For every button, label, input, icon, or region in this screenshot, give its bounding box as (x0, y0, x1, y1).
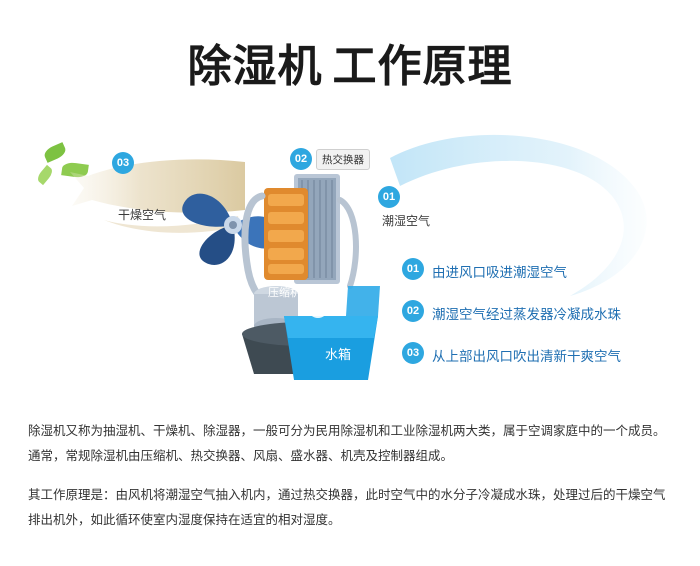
leaf-icon-1 (42, 142, 67, 163)
callout-badge-02: 02 (402, 300, 424, 322)
leaf-icon-3 (35, 165, 54, 185)
label-dry-air: 干燥空气 (118, 206, 166, 223)
badge-03-dry-air: 03 (112, 152, 134, 174)
badge-01-humid-air: 01 (378, 186, 400, 208)
description-paragraph-2: 其工作原理是：由风机将潮湿空气抽入机内，通过热交换器，此时空气中的水分子冷凝成水… (28, 482, 672, 532)
callout-badge-01: 01 (402, 258, 424, 280)
label-heat-exchanger: 热交换器 (316, 149, 370, 170)
callout-text-02: 潮湿空气经过蒸发器冷凝成水珠 (432, 303, 621, 323)
label-water-tank: 水箱 (325, 344, 351, 363)
principle-diagram: 03 干燥空气 02 热交换器 01 潮湿空气 压缩机 水箱 01 由进风口吸进… (0, 118, 700, 408)
page-title: 除湿机工作原理 (0, 30, 700, 94)
callout-text-03: 从上部出风口吹出清新干爽空气 (432, 345, 621, 365)
badge-02-heat-exchanger: 02 (290, 148, 312, 170)
description-paragraph-1: 除湿机又称为抽湿机、干燥机、除湿器，一般可分为民用除湿机和工业除湿机两大类，属于… (28, 418, 672, 468)
callout-badge-03: 03 (402, 342, 424, 364)
description-block: 除湿机又称为抽湿机、干燥机、除湿器，一般可分为民用除湿机和工业除湿机两大类，属于… (28, 418, 672, 532)
label-compressor: 压缩机 (268, 284, 301, 300)
dehumidifier-principle-page: 除湿机工作原理 (0, 0, 700, 566)
label-humid-air: 潮湿空气 (382, 212, 430, 229)
page-title-part1: 除湿机 (188, 41, 323, 92)
callout-text-01: 由进风口吸进潮湿空气 (432, 261, 567, 281)
page-title-part2: 工作原理 (333, 41, 513, 92)
